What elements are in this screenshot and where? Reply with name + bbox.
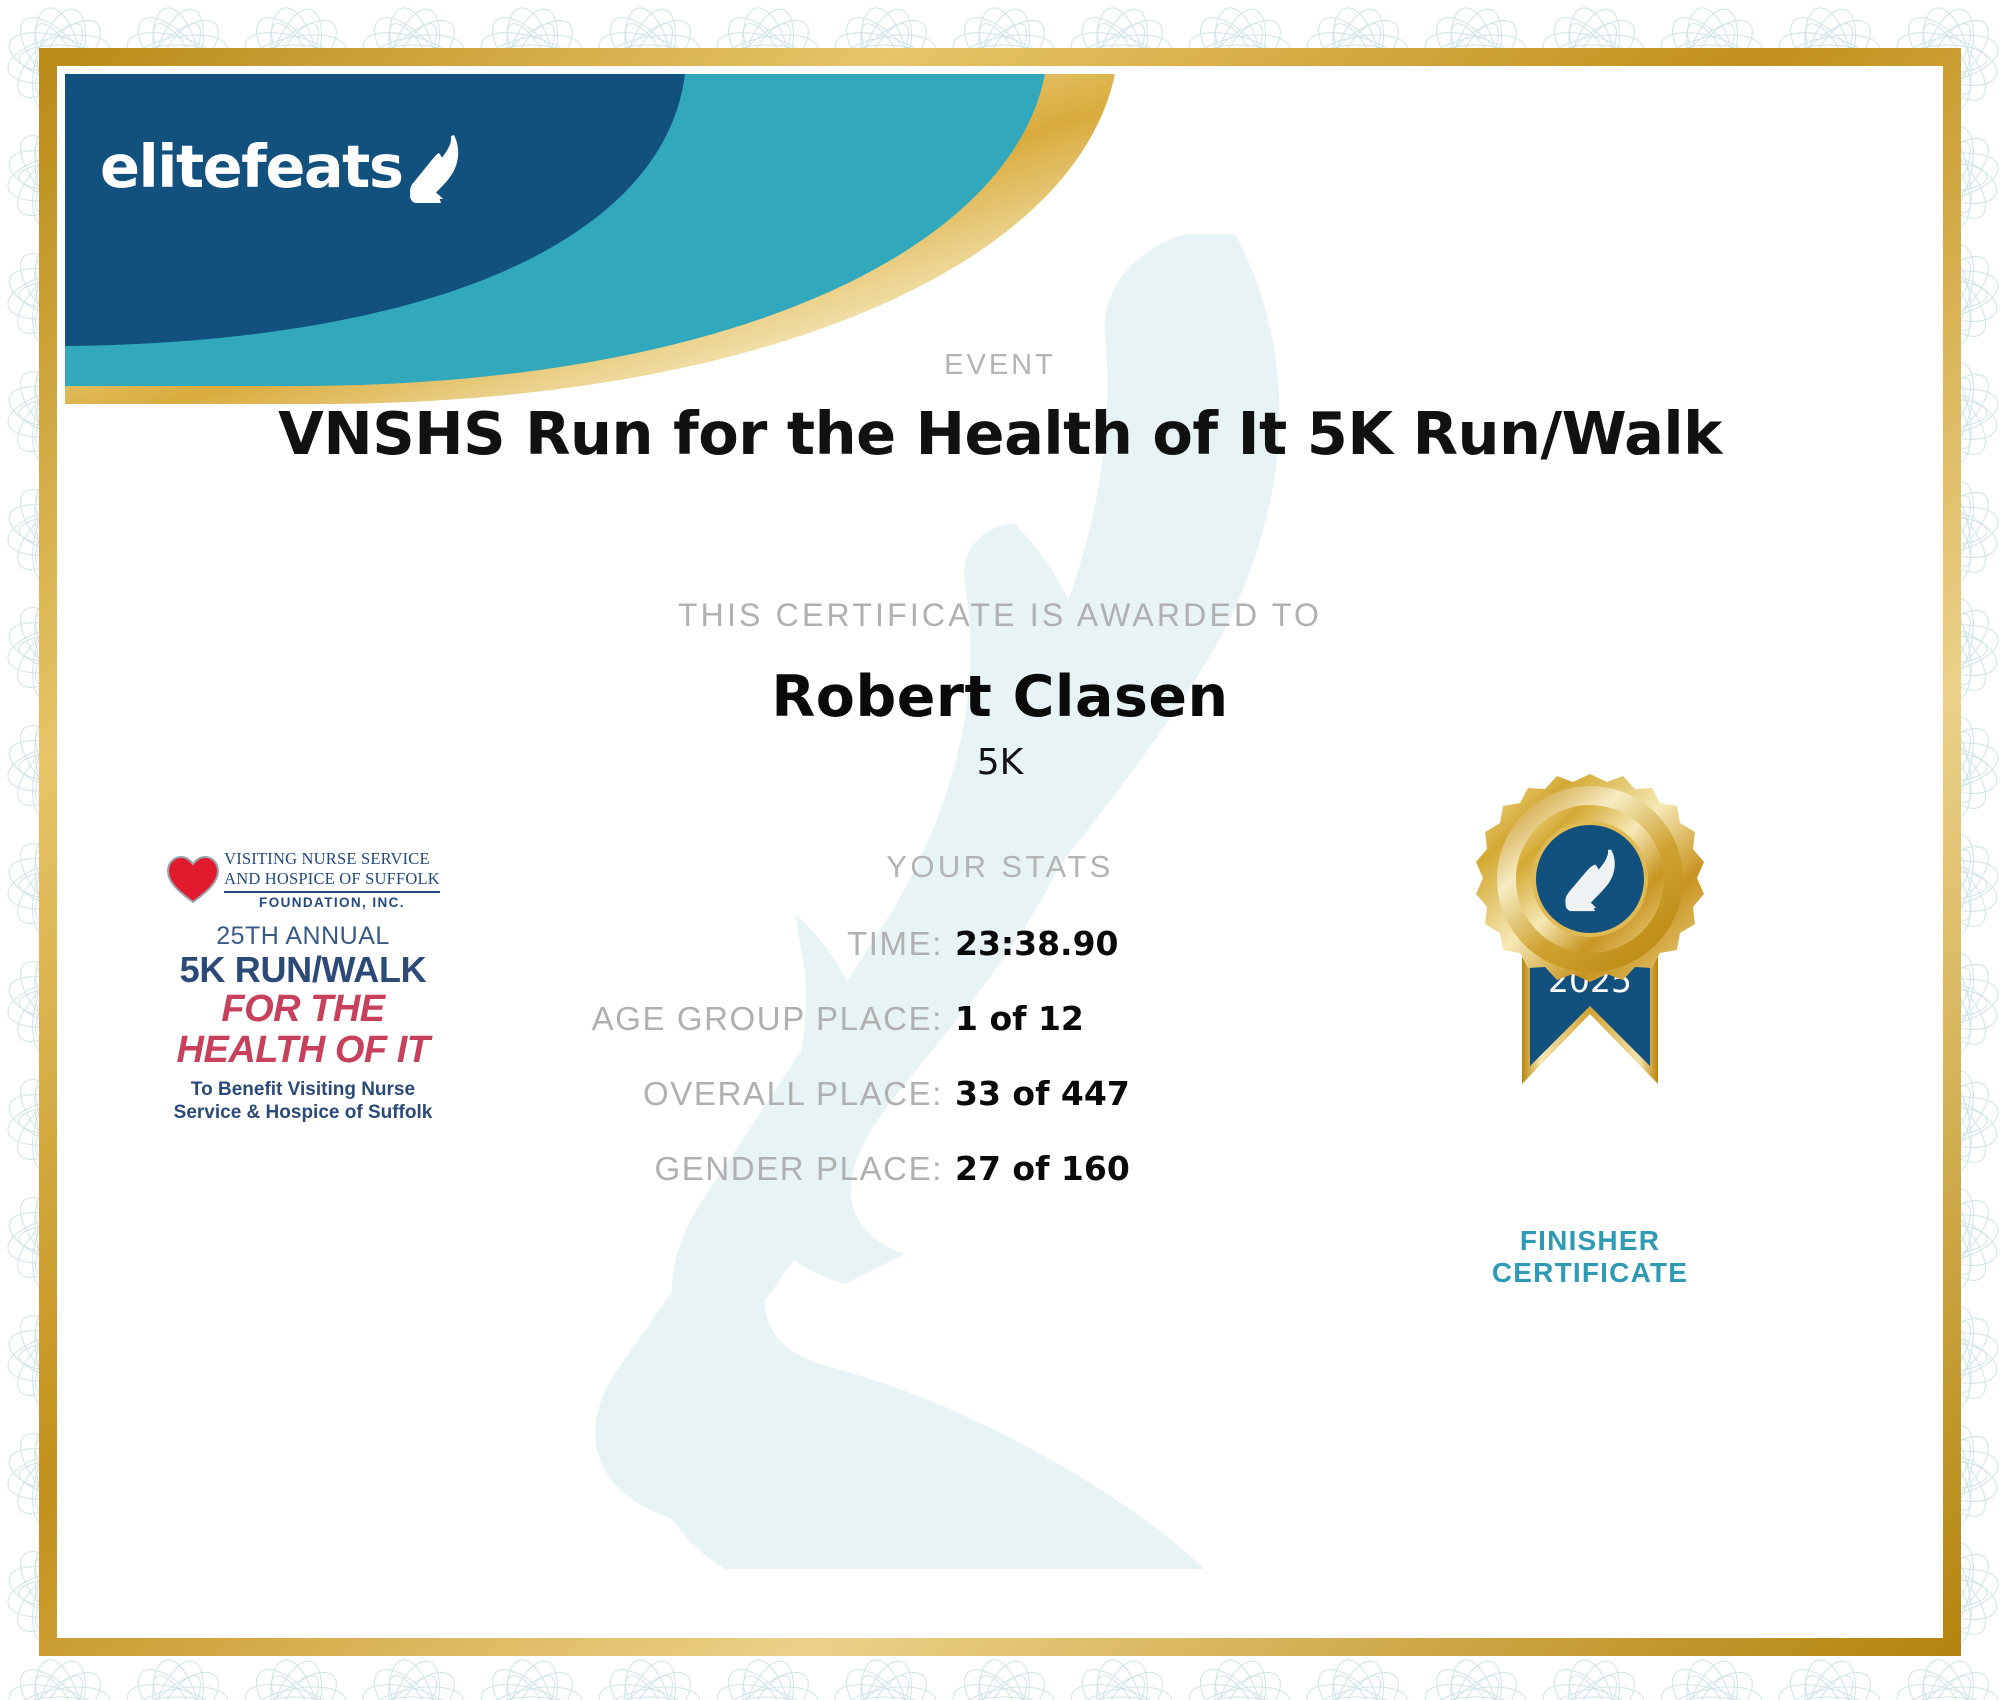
stat-value-gender-place: 27 of 160: [955, 1149, 1255, 1188]
stat-value-age-group-place: 1 of 12: [955, 999, 1255, 1038]
recipient-name: Robert Clasen: [65, 664, 1935, 730]
sponsor-benefit-line2: Service & Hospice of Suffolk: [143, 1101, 463, 1124]
stat-value-time: 23:38.90: [955, 924, 1255, 963]
stat-label-age-group-place: AGE GROUP PLACE:: [592, 1000, 943, 1038]
sponsor-org-line3: FOUNDATION, INC.: [224, 895, 440, 910]
stat-row-overall-place: OVERALL PLACE: 33 of 447: [395, 1074, 1255, 1136]
winged-foot-icon: [409, 133, 471, 203]
finisher-medal-badge: 2025: [1460, 774, 1720, 1289]
sponsor-annual: 25TH ANNUAL: [143, 922, 463, 951]
sponsor-title-line1: 5K RUN/WALK: [143, 951, 463, 989]
event-label: EVENT: [65, 349, 1935, 382]
brand-logo: elitefeats: [100, 129, 471, 203]
sponsor-org-text: VISITING NURSE SERVICE AND HOSPICE OF SU…: [224, 849, 440, 910]
stats-table: TIME: 23:38.90 AGE GROUP PLACE: 1 of 12 …: [395, 924, 1255, 1224]
event-title: VNSHS Run for the Health of It 5K Run/Wa…: [65, 399, 1935, 468]
medal-caption-line2: CERTIFICATE: [1460, 1257, 1720, 1289]
stat-value-overall-place: 33 of 447: [955, 1074, 1255, 1113]
stat-label-time: TIME:: [847, 925, 943, 963]
brand-wordmark: elitefeats: [100, 137, 403, 196]
sponsor-title-line3: HEALTH OF IT: [143, 1030, 463, 1071]
stat-row-gender-place: GENDER PLACE: 27 of 160: [395, 1149, 1255, 1211]
sponsor-title-line2: FOR THE: [143, 989, 463, 1030]
sponsor-divider: [224, 891, 440, 893]
medal-caption-line1: FINISHER: [1460, 1225, 1720, 1257]
medal-caption: FINISHER CERTIFICATE: [1460, 1225, 1720, 1289]
sponsor-logo: VISITING NURSE SERVICE AND HOSPICE OF SU…: [143, 849, 463, 1124]
stat-label-gender-place: GENDER PLACE:: [654, 1150, 943, 1188]
sponsor-org-line1: VISITING NURSE SERVICE: [224, 849, 440, 869]
awarded-to-label: THIS CERTIFICATE IS AWARDED TO: [65, 597, 1935, 634]
sponsor-org-line2: AND HOSPICE OF SUFFOLK: [224, 869, 440, 889]
stat-row-time: TIME: 23:38.90: [395, 924, 1255, 986]
heart-icon: [166, 855, 220, 905]
stat-label-overall-place: OVERALL PLACE:: [643, 1075, 943, 1113]
stat-row-age-group-place: AGE GROUP PLACE: 1 of 12: [395, 999, 1255, 1061]
sponsor-org-lockup: VISITING NURSE SERVICE AND HOSPICE OF SU…: [143, 849, 463, 910]
certificate-page: elitefeats EVENT VNSHS Run for the Healt…: [0, 0, 2001, 1700]
medal-graphic: 2025: [1460, 774, 1720, 1214]
certificate-body: elitefeats EVENT VNSHS Run for the Healt…: [65, 74, 1935, 1630]
sponsor-benefit-line1: To Benefit Visiting Nurse: [143, 1078, 463, 1101]
certificate-content: EVENT VNSHS Run for the Health of It 5K …: [65, 74, 1935, 1630]
